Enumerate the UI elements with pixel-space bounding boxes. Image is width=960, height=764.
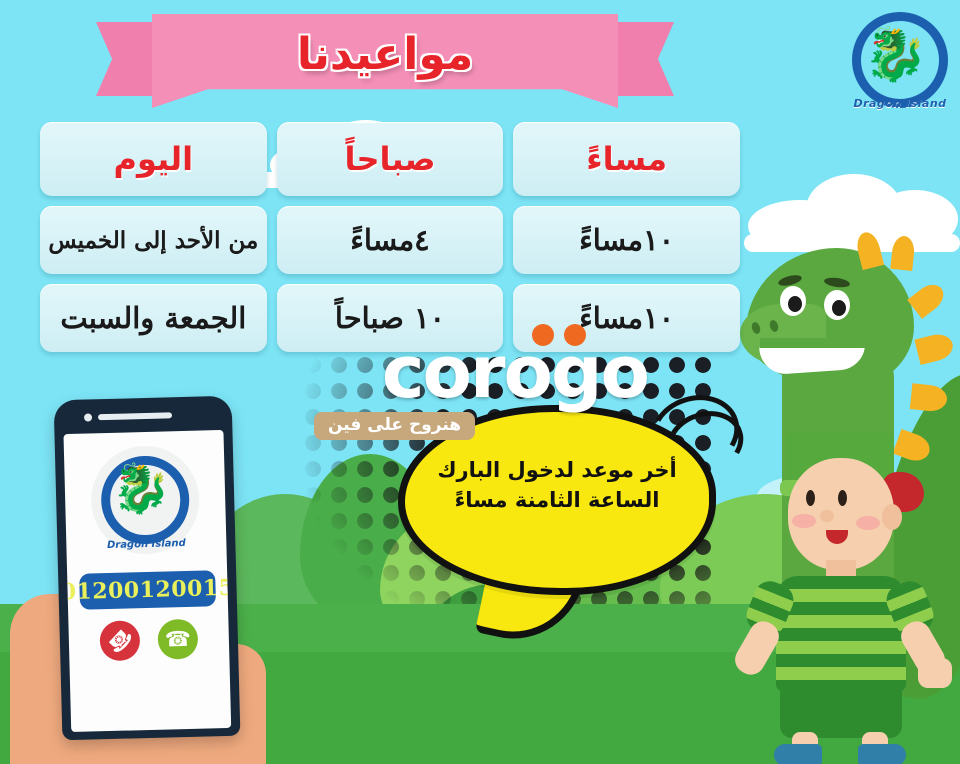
bubble-line-1: أخر موعد لدخول البارك bbox=[437, 456, 676, 486]
speech-bubble: أخر موعد لدخول البارك الساعة الثامنة مسا… bbox=[398, 405, 716, 595]
call-buttons: ☎ ☎ bbox=[68, 618, 229, 662]
dragon-head-icon: 🐉 bbox=[872, 26, 928, 88]
phone-speaker bbox=[98, 412, 172, 420]
header-evening: مساءً bbox=[513, 122, 740, 196]
schedule-table: مساءً صباحاً اليوم ١٠مساءً ٤مساءً من الأ… bbox=[40, 122, 740, 352]
row1-morning: ١٠ صباحاً bbox=[277, 284, 504, 352]
row1-day: الجمعة والسبت bbox=[40, 284, 267, 352]
row1-evening: ١٠مساءً bbox=[513, 284, 740, 352]
title-ribbon: مواعيدنا bbox=[152, 14, 618, 108]
brand-name-label: Dragon Island bbox=[846, 97, 954, 110]
table-row: ١٠مساءً ٤مساءً من الأحد إلى الخميس bbox=[40, 206, 740, 274]
header-day: اليوم bbox=[40, 122, 267, 196]
phone-brand-label: Dragon Island bbox=[92, 538, 200, 552]
page-title: مواعيدنا bbox=[152, 14, 618, 108]
row0-evening: ١٠مساءً bbox=[513, 206, 740, 274]
header-morning: صباحاً bbox=[277, 122, 504, 196]
phone-hangup-icon[interactable]: ☎ bbox=[99, 620, 140, 661]
phone-call-icon[interactable]: ☎ bbox=[157, 619, 198, 660]
row0-day: من الأحد إلى الخميس bbox=[40, 206, 267, 274]
bubble-line-2: الساعة الثامنة مساءً bbox=[455, 486, 660, 516]
row0-morning: ٤مساءً bbox=[277, 206, 504, 274]
smartphone: 🐉 Dragon Island 01200120015 ☎ ☎ bbox=[54, 396, 241, 741]
boy-character bbox=[740, 432, 960, 764]
phone-logo: 🐉 Dragon Island bbox=[90, 445, 201, 556]
table-header-row: مساءً صباحاً اليوم bbox=[40, 122, 740, 196]
dragon-head-icon: 🐉 bbox=[114, 461, 171, 518]
phone-screen: 🐉 Dragon Island 01200120015 ☎ ☎ bbox=[63, 430, 231, 732]
phone-number: 01200120015 bbox=[79, 570, 216, 610]
phone-camera-icon bbox=[84, 413, 92, 421]
table-row: ١٠مساءً ١٠ صباحاً الجمعة والسبت bbox=[40, 284, 740, 352]
brand-logo: 🐉 Dragon Island bbox=[846, 6, 954, 114]
bubble-text: أخر موعد لدخول البارك الساعة الثامنة مسا… bbox=[398, 405, 716, 595]
poster: مواعيدنا مساءً صباحاً اليوم ١٠مساءً ٤مسا… bbox=[0, 0, 960, 764]
